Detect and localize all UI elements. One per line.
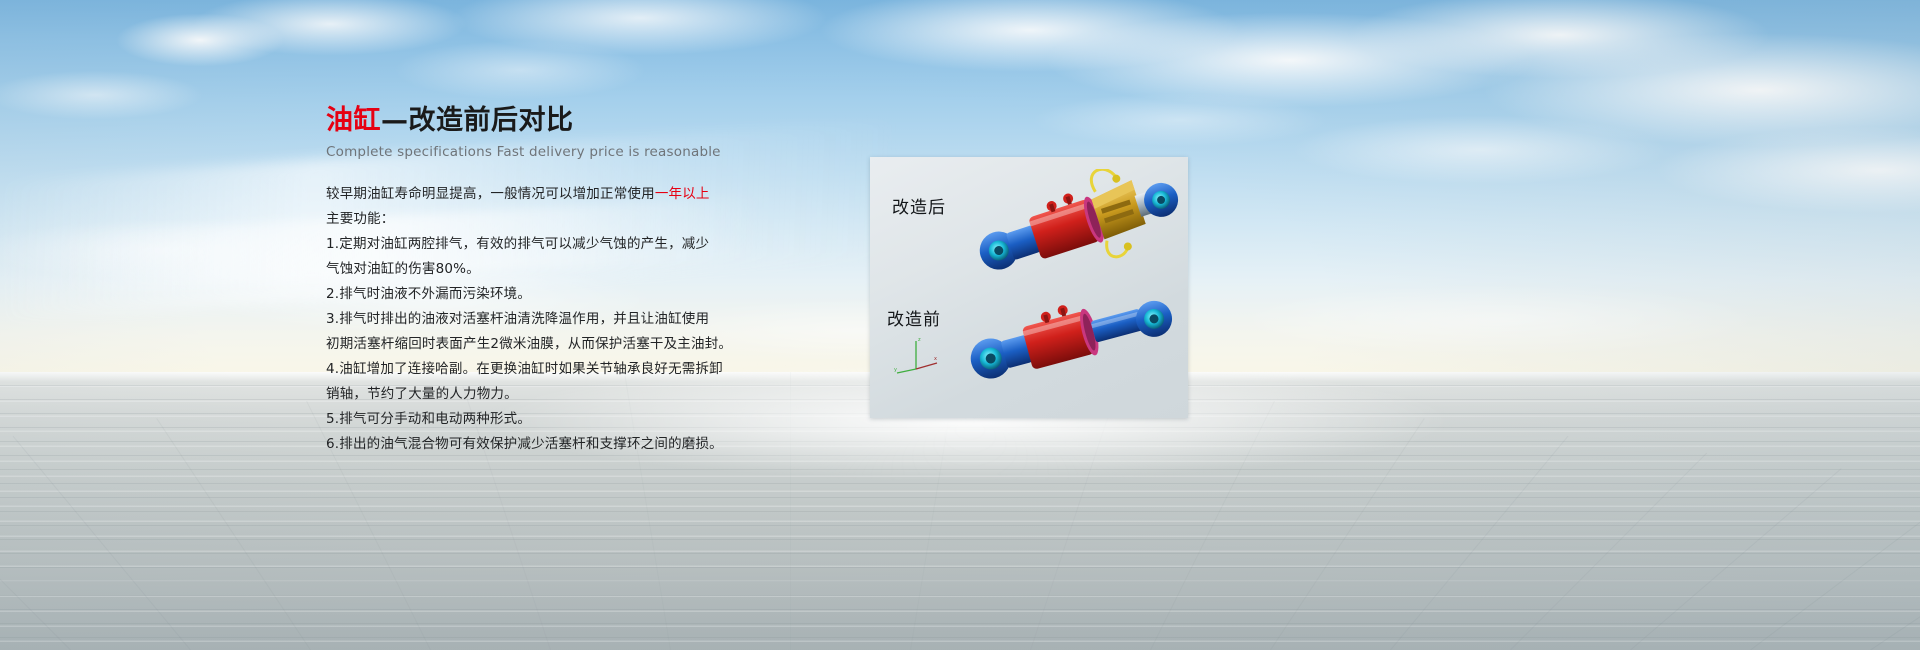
description-line-l7: 初期活塞杆缩回时表面产生2微米油膜，从而保护活塞干及主油封。 xyxy=(326,332,746,357)
feature-description-list: 较早期油缸寿命明显提高，一般情况可以增加正常使用一年以上主要功能：1.定期对油缸… xyxy=(326,182,746,457)
description-line-text: 5.排气可分手动和电动两种形式。 xyxy=(326,411,531,427)
page-title: 油缸—改造前后对比 xyxy=(326,105,746,137)
description-line-l1: 较早期油缸寿命明显提高，一般情况可以增加正常使用一年以上 xyxy=(326,182,746,207)
description-line-text: 较早期油缸寿命明显提高，一般情况可以增加正常使用 xyxy=(326,186,655,202)
svg-text:x: x xyxy=(934,356,937,362)
description-line-l2: 主要功能： xyxy=(326,207,746,232)
description-line-text: 4.油缸增加了连接哈副。在更换油缸时如果关节轴承良好无需拆卸 xyxy=(326,361,723,377)
subtitle: Complete specifications Fast delivery pr… xyxy=(326,144,746,160)
description-line-l3: 1.定期对油缸两腔排气，有效的排气可以减少气蚀的产生，减少 xyxy=(326,232,746,257)
description-line-l10: 5.排气可分手动和电动两种形式。 xyxy=(326,407,746,432)
description-line-l9: 销轴，节约了大量的人力物力。 xyxy=(326,382,746,407)
description-line-l11: 6.排出的油气混合物可有效保护减少活塞杆和支撑环之间的磨损。 xyxy=(326,432,746,457)
description-line-l5: 2.排气时油液不外漏而污染环境。 xyxy=(326,282,746,307)
coordinate-axis-icon: z y x xyxy=(894,335,940,375)
description-line-l4: 气蚀对油缸的伤害80%。 xyxy=(326,257,746,282)
ground-line xyxy=(156,418,311,650)
description-line-l6: 3.排气时排出的油液对活塞杆油清洗降温作用，并且让油缸使用 xyxy=(326,307,746,332)
description-line-text: 气蚀对油缸的伤害80%。 xyxy=(326,261,480,277)
label-before-retrofit: 改造前 xyxy=(887,305,941,330)
cylinder-before-retrofit-illustration xyxy=(966,285,1178,405)
description-line-text: 1.定期对油缸两腔排气，有效的排气可以减少气蚀的产生，减少 xyxy=(326,236,709,252)
description-line-emphasis: 一年以上 xyxy=(655,186,710,202)
description-line-text: 销轴，节约了大量的人力物力。 xyxy=(326,386,518,402)
description-line-text: 3.排气时排出的油液对活塞杆油清洗降温作用，并且让油缸使用 xyxy=(326,311,709,327)
ground-line xyxy=(1510,453,1707,650)
title-rest: —改造前后对比 xyxy=(381,105,574,136)
ground-line xyxy=(1870,495,1920,650)
description-line-text: 初期活塞杆缩回时表面产生2微米油膜，从而保护活塞干及主油封。 xyxy=(326,336,732,352)
description-line-text: 6.排出的油气混合物可有效保护减少活塞杆和支撑环之间的磨损。 xyxy=(326,436,723,452)
product-comparison-panel: 改造后 改造前 z y x xyxy=(870,157,1188,418)
description-line-text: 主要功能： xyxy=(326,211,395,227)
svg-text:y: y xyxy=(894,367,897,373)
ground-line xyxy=(1750,482,1920,650)
description-line-l8: 4.油缸增加了连接哈副。在更换油缸时如果关节轴承良好无需拆卸 xyxy=(326,357,746,382)
ground-line xyxy=(0,453,71,650)
cylinder-after-retrofit-illustration xyxy=(974,169,1182,289)
banner-text-column: 油缸—改造前后对比 Complete specifications Fast d… xyxy=(326,105,746,457)
hero-banner: 油缸—改造前后对比 Complete specifications Fast d… xyxy=(0,0,1920,650)
title-highlight: 油缸 xyxy=(326,105,381,136)
label-after-retrofit: 改造后 xyxy=(892,193,946,218)
svg-text:z: z xyxy=(918,337,921,343)
description-line-text: 2.排气时油液不外漏而污染环境。 xyxy=(326,286,531,302)
